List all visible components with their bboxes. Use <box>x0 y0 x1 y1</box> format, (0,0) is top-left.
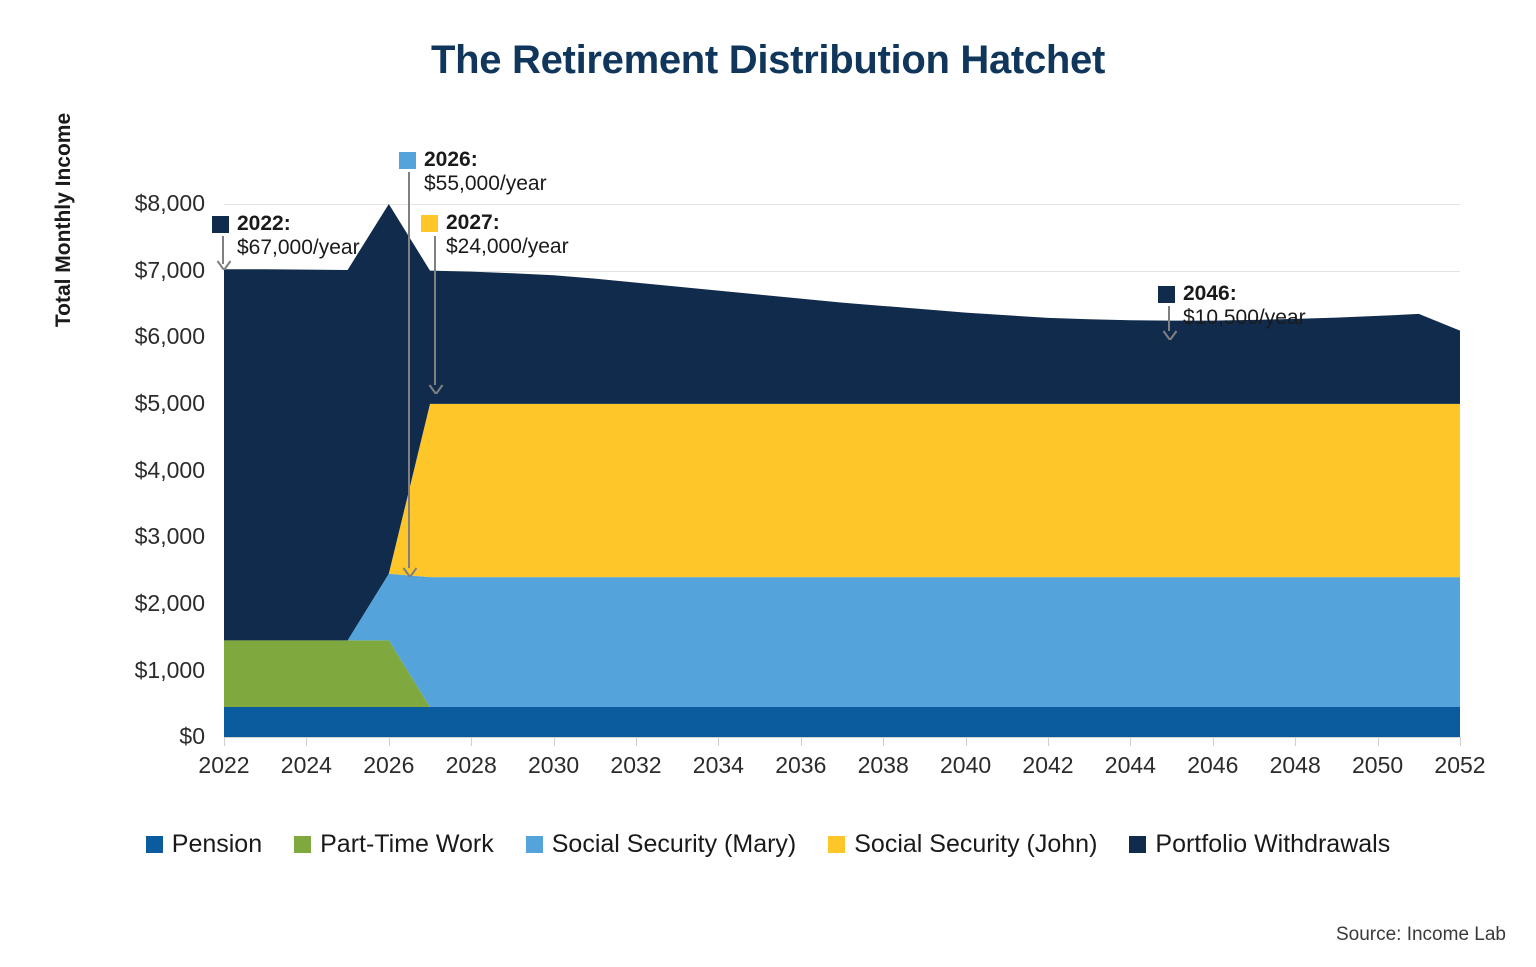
x-tick-label: 2050 <box>1338 752 1418 779</box>
x-tick-mark <box>306 737 307 746</box>
x-tick-mark <box>636 737 637 746</box>
y-tick-label: $3,000 <box>95 523 205 550</box>
x-tick-mark <box>389 737 390 746</box>
annotation-2026-swatch <box>399 152 416 169</box>
x-tick-label: 2040 <box>926 752 1006 779</box>
x-tick-mark <box>883 737 884 746</box>
annotation-2027-head: 2027: <box>421 211 569 235</box>
annotation-2022: 2022: $67,000/year <box>212 212 360 260</box>
x-tick-label: 2038 <box>843 752 923 779</box>
x-tick-label: 2044 <box>1090 752 1170 779</box>
legend-item[interactable]: Pension <box>146 830 262 859</box>
x-tick-label: 2036 <box>761 752 841 779</box>
legend-item[interactable]: Part-Time Work <box>294 830 494 859</box>
legend-label: Social Security (John) <box>854 830 1097 859</box>
legend-label: Part-Time Work <box>320 830 494 859</box>
y-tick-label: $5,000 <box>95 390 205 417</box>
annotation-2026-arrowhead <box>402 565 418 577</box>
y-axis-title: Total Monthly Income <box>52 60 76 380</box>
y-tick-label: $1,000 <box>95 657 205 684</box>
legend-swatch-icon <box>526 836 543 853</box>
annotation-2022-head: 2022: <box>212 212 360 236</box>
annotation-2026-year: 2026: <box>424 148 478 172</box>
annotation-2046: 2046: $10,500/year <box>1158 282 1306 330</box>
y-tick-label: $0 <box>95 723 205 750</box>
x-axis-line <box>224 737 1460 738</box>
annotation-2046-head: 2046: <box>1158 282 1306 306</box>
legend-item[interactable]: Social Security (Mary) <box>526 830 797 859</box>
annotation-2027: 2027: $24,000/year <box>421 211 569 259</box>
y-tick-label: $4,000 <box>95 457 205 484</box>
annotation-2022-arrowhead <box>216 258 232 270</box>
annotation-2027-leader <box>434 236 436 385</box>
legend-swatch-icon <box>828 836 845 853</box>
page-title: The Retirement Distribution Hatchet <box>0 38 1536 83</box>
x-tick-mark <box>1460 737 1461 746</box>
y-tick-label: $6,000 <box>95 323 205 350</box>
annotation-2022-swatch <box>212 216 229 233</box>
x-tick-label: 2048 <box>1255 752 1335 779</box>
x-tick-mark <box>1295 737 1296 746</box>
x-tick-label: 2032 <box>596 752 676 779</box>
x-tick-label: 2034 <box>678 752 758 779</box>
x-tick-label: 2046 <box>1173 752 1253 779</box>
annotation-2027-year: 2027: <box>446 211 500 235</box>
x-tick-mark <box>1048 737 1049 746</box>
annotation-2026-head: 2026: <box>399 148 547 172</box>
x-tick-mark <box>471 737 472 746</box>
annotation-2046-year: 2046: <box>1183 282 1237 306</box>
x-tick-mark <box>966 737 967 746</box>
x-tick-label: 2030 <box>514 752 594 779</box>
legend-swatch-icon <box>294 836 311 853</box>
annotation-2046-swatch <box>1158 286 1175 303</box>
x-tick-mark <box>1213 737 1214 746</box>
annotation-2027-amount: $24,000/year <box>421 235 569 259</box>
annotation-2022-amount: $67,000/year <box>212 236 360 260</box>
annotation-2046-arrowhead <box>1162 328 1178 340</box>
y-tick-label: $8,000 <box>95 190 205 217</box>
annotation-2046-amount: $10,500/year <box>1158 306 1306 330</box>
x-tick-mark <box>224 737 225 746</box>
annotation-2026-amount: $55,000/year <box>399 172 547 196</box>
area-series-pension <box>224 707 1460 737</box>
legend-label: Pension <box>172 830 262 859</box>
chart-root: The Retirement Distribution Hatchet Tota… <box>0 0 1536 967</box>
legend-swatch-icon <box>146 836 163 853</box>
x-tick-label: 2022 <box>184 752 264 779</box>
legend-swatch-icon <box>1129 836 1146 853</box>
y-tick-label: $2,000 <box>95 590 205 617</box>
legend-item[interactable]: Social Security (John) <box>828 830 1097 859</box>
annotation-2026: 2026: $55,000/year <box>399 148 547 196</box>
x-tick-label: 2052 <box>1420 752 1500 779</box>
legend-label: Portfolio Withdrawals <box>1155 830 1390 859</box>
x-tick-mark <box>1130 737 1131 746</box>
annotation-2027-arrowhead <box>428 382 444 394</box>
x-tick-label: 2028 <box>431 752 511 779</box>
x-tick-label: 2024 <box>266 752 346 779</box>
x-tick-mark <box>718 737 719 746</box>
source-note: Source: Income Lab <box>1336 924 1506 946</box>
x-tick-mark <box>801 737 802 746</box>
x-tick-mark <box>1378 737 1379 746</box>
y-axis-tick-labels: $8,000 $7,000 $6,000 $5,000 $4,000 $3,00… <box>95 0 205 967</box>
y-tick-label: $7,000 <box>95 257 205 284</box>
legend-label: Social Security (Mary) <box>552 830 797 859</box>
x-tick-mark <box>554 737 555 746</box>
chart-legend: PensionPart-Time WorkSocial Security (Ma… <box>0 830 1536 859</box>
x-tick-label: 2042 <box>1008 752 1088 779</box>
annotation-2027-swatch <box>421 215 438 232</box>
x-tick-label: 2026 <box>349 752 429 779</box>
annotation-2026-leader <box>408 172 410 568</box>
legend-item[interactable]: Portfolio Withdrawals <box>1129 830 1390 859</box>
annotation-2022-year: 2022: <box>237 212 291 236</box>
